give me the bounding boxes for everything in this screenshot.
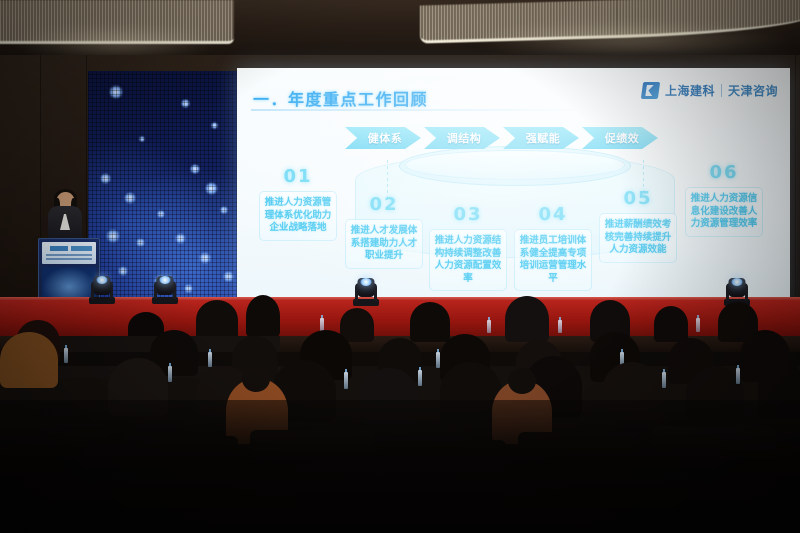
column-text: 推进人才发展体系搭建助力人才职业提升: [349, 225, 419, 263]
conference-hall-photo: 一．年度重点工作回顾 上海建科 天津咨询 健体系 调结构 强赋能 促绩效 01 …: [0, 0, 800, 533]
foreground-shadow: [0, 400, 800, 533]
moving-head-light-3: [352, 276, 380, 306]
audience-member: [505, 296, 549, 342]
column-text: 推进人力资源管理体系优化助力企业战略落地: [263, 197, 333, 235]
audience-member: [654, 306, 688, 342]
arrow-banner-2: 调结构: [424, 127, 500, 149]
column-text: 推进员工培训体系健全提高专项培训运营管理水平: [518, 235, 588, 285]
column-card: 推进人力资源信息化建设改善人力资源管理效率: [685, 187, 763, 237]
water-bottle: [64, 348, 68, 363]
arrow-label: 强赋能: [526, 130, 561, 146]
audience-member: [0, 332, 58, 388]
arrow-banner-3: 强赋能: [503, 127, 579, 149]
water-bottle: [344, 372, 348, 389]
arrow-label: 调结构: [447, 130, 482, 146]
water-bottle: [418, 370, 422, 386]
column-card: 推进人才发展体系搭建助力人才职业提升: [345, 219, 423, 269]
slide-title: 一．年度重点工作回顾: [253, 86, 428, 110]
arrow-label: 健体系: [368, 130, 403, 146]
water-bottle: [558, 320, 562, 333]
title-underline: [251, 109, 581, 111]
moving-head-light-1: [85, 268, 119, 304]
arrow-banner-4: 促绩效: [582, 127, 658, 149]
column-number: 03: [429, 206, 507, 224]
column-card: 推进员工培训体系健全提高专项培训运营管理水平: [514, 229, 592, 291]
column-number: 05: [599, 190, 677, 208]
podium-sign-logo-icon: [50, 246, 92, 251]
column-card: 推进人力资源管理体系优化助力企业战略落地: [259, 191, 337, 241]
chandelier-glow-right: [470, 22, 800, 58]
column-text: 推进人力资源结构持续调整改善人力资源配置效率: [433, 235, 503, 285]
wall-seam: [795, 55, 796, 305]
arrow-label: 促绩效: [605, 130, 640, 146]
audience-head: [242, 366, 270, 392]
podium-sign-subtitle: [46, 254, 92, 261]
column-number: 06: [685, 164, 763, 182]
arrow-banner-row: 健体系 调结构 强赋能 促绩效: [345, 127, 658, 149]
logo-divider: [721, 84, 722, 97]
column-number: 02: [345, 196, 423, 214]
slide-column-02: 02 推进人才发展体系搭建助力人才职业提升: [345, 196, 423, 269]
water-bottle: [436, 352, 440, 368]
column-number: 04: [514, 206, 592, 224]
slide-column-03: 03 推进人力资源结构持续调整改善人力资源配置效率: [429, 206, 507, 291]
water-bottle: [736, 368, 740, 384]
audience-member: [246, 295, 280, 337]
slide-column-06: 06 推进人力资源信息化建设改善人力资源管理效率: [685, 164, 763, 237]
column-text: 推进薪酬绩效考核完善持续提升人力资源效能: [603, 219, 673, 257]
slide-column-01: 01 推进人力资源管理体系优化助力企业战略落地: [259, 168, 337, 241]
column-card: 推进人力资源结构持续调整改善人力资源配置效率: [429, 229, 507, 291]
water-bottle: [662, 372, 666, 388]
logo-primary-text: 上海建科: [665, 82, 715, 99]
column-card: 推进薪酬绩效考核完善持续提升人力资源效能: [599, 213, 677, 263]
audience-member: [340, 308, 374, 342]
water-bottle: [168, 366, 172, 382]
moving-head-light-2: [148, 268, 182, 304]
audience-head: [508, 368, 536, 394]
audience-member: [196, 300, 238, 340]
water-bottle: [208, 352, 212, 367]
projection-slide: 一．年度重点工作回顾 上海建科 天津咨询 健体系 调结构 强赋能 促绩效 01 …: [237, 68, 790, 307]
water-bottle: [696, 318, 700, 332]
column-text: 推进人力资源信息化建设改善人力资源管理效率: [689, 193, 759, 231]
slide-column-04: 04 推进员工培训体系健全提高专项培训运营管理水平: [514, 206, 592, 291]
podium-sign: [42, 242, 96, 264]
logo-secondary-text: 天津咨询: [728, 82, 778, 99]
water-bottle: [487, 320, 491, 333]
cylinder-top-inner-graphic: [405, 150, 625, 180]
arrow-banner-1: 健体系: [345, 127, 421, 149]
audience-member: [410, 302, 450, 342]
cylinder-dash-left: [387, 160, 388, 198]
brand-logo: 上海建科 天津咨询: [642, 82, 778, 99]
slide-column-05: 05 推进薪酬绩效考核完善持续提升人力资源效能: [599, 190, 677, 263]
column-number: 01: [259, 168, 337, 186]
logo-mark-icon: [641, 82, 660, 99]
